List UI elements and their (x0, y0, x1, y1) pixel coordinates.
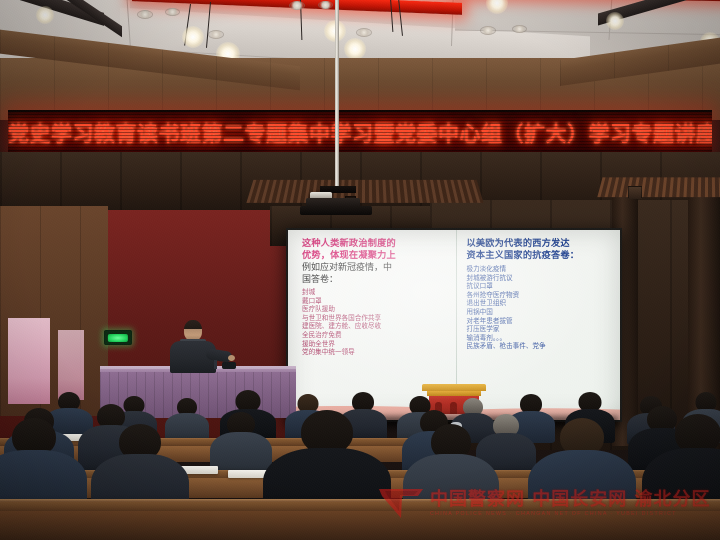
projector-mount-plate (300, 206, 372, 215)
stage-side-drape-left-2 (58, 330, 84, 400)
podium-mic-stand (214, 360, 217, 369)
list-item: 党的集中统一领导 (302, 348, 450, 357)
right-bullet-list: 极力淡化疫情 封城被游行抗议 抗议口罩 各州抢夺医疗物资 退出世卫组织 甩锅中国… (467, 265, 615, 351)
right-heading-line1: 以美欧为代表的西方发达 (467, 238, 615, 250)
exit-sign (104, 330, 132, 345)
list-item: 戴口罩 (302, 297, 450, 306)
led-banner: 党史学习教育读书班第二专题集中学习暨党委中心组（扩大）学习专题讲座 (8, 110, 712, 156)
photo-scene: 党史学习教育读书班第二专题集中学习暨党委中心组（扩大）学习专题讲座 这种人类新政… (0, 0, 720, 540)
right-heading-line2: 资本主义国家的抗疫答卷： (467, 250, 615, 262)
ceiling-ribs (246, 180, 483, 203)
presenter (160, 320, 230, 372)
front-desk-edge (0, 499, 720, 502)
presenter-head (184, 320, 202, 341)
wall-speaker-box (628, 186, 642, 199)
list-item: 打压医学家 (467, 325, 615, 334)
front-desk-front (0, 511, 720, 540)
list-item: 民族矛盾、枪击事件、党争 (467, 342, 615, 351)
podium-microphone (222, 362, 236, 369)
list-item: 抗议口罩 (467, 282, 615, 291)
list-item: 建医院、建方舱、应收尽收 (302, 322, 450, 331)
list-item: 封城被游行抗议 (467, 274, 615, 283)
list-item: 全民治疗免费 (302, 331, 450, 340)
left-sub-line2: 国答卷： (302, 274, 450, 286)
list-item: 极力淡化疫情 (467, 265, 615, 274)
ceiling-ribs-right (597, 177, 720, 197)
left-heading-line1: 这种人类新政治制度的 (302, 238, 450, 250)
list-item: 封城 (302, 288, 450, 297)
stage-side-drape-left (8, 318, 50, 404)
projector-pole (335, 0, 339, 190)
left-sub-line1: 例如应对新冠疫情，中 (302, 262, 450, 274)
exit-sign-glyph (108, 333, 128, 341)
list-item: 对老年患者拔管 (467, 317, 615, 326)
list-item: 甩锅中国 (467, 308, 615, 317)
left-heading-line2: 优势，体现在凝聚力上 (302, 250, 450, 262)
banner-title: 党史学习教育读书班第二专题集中学习暨党委中心组（扩大）学习专题讲座 (8, 118, 712, 148)
list-item: 医疗队援助 (302, 305, 450, 314)
presenter-hand (228, 355, 235, 361)
list-item: 援助全世界 (302, 340, 450, 349)
left-bullet-list: 封城 戴口罩 医疗队援助 与世卫和世界各国合作共享 建医院、建方舱、应收尽收 全… (302, 288, 450, 357)
list-item: 退出世卫组织 (467, 299, 615, 308)
